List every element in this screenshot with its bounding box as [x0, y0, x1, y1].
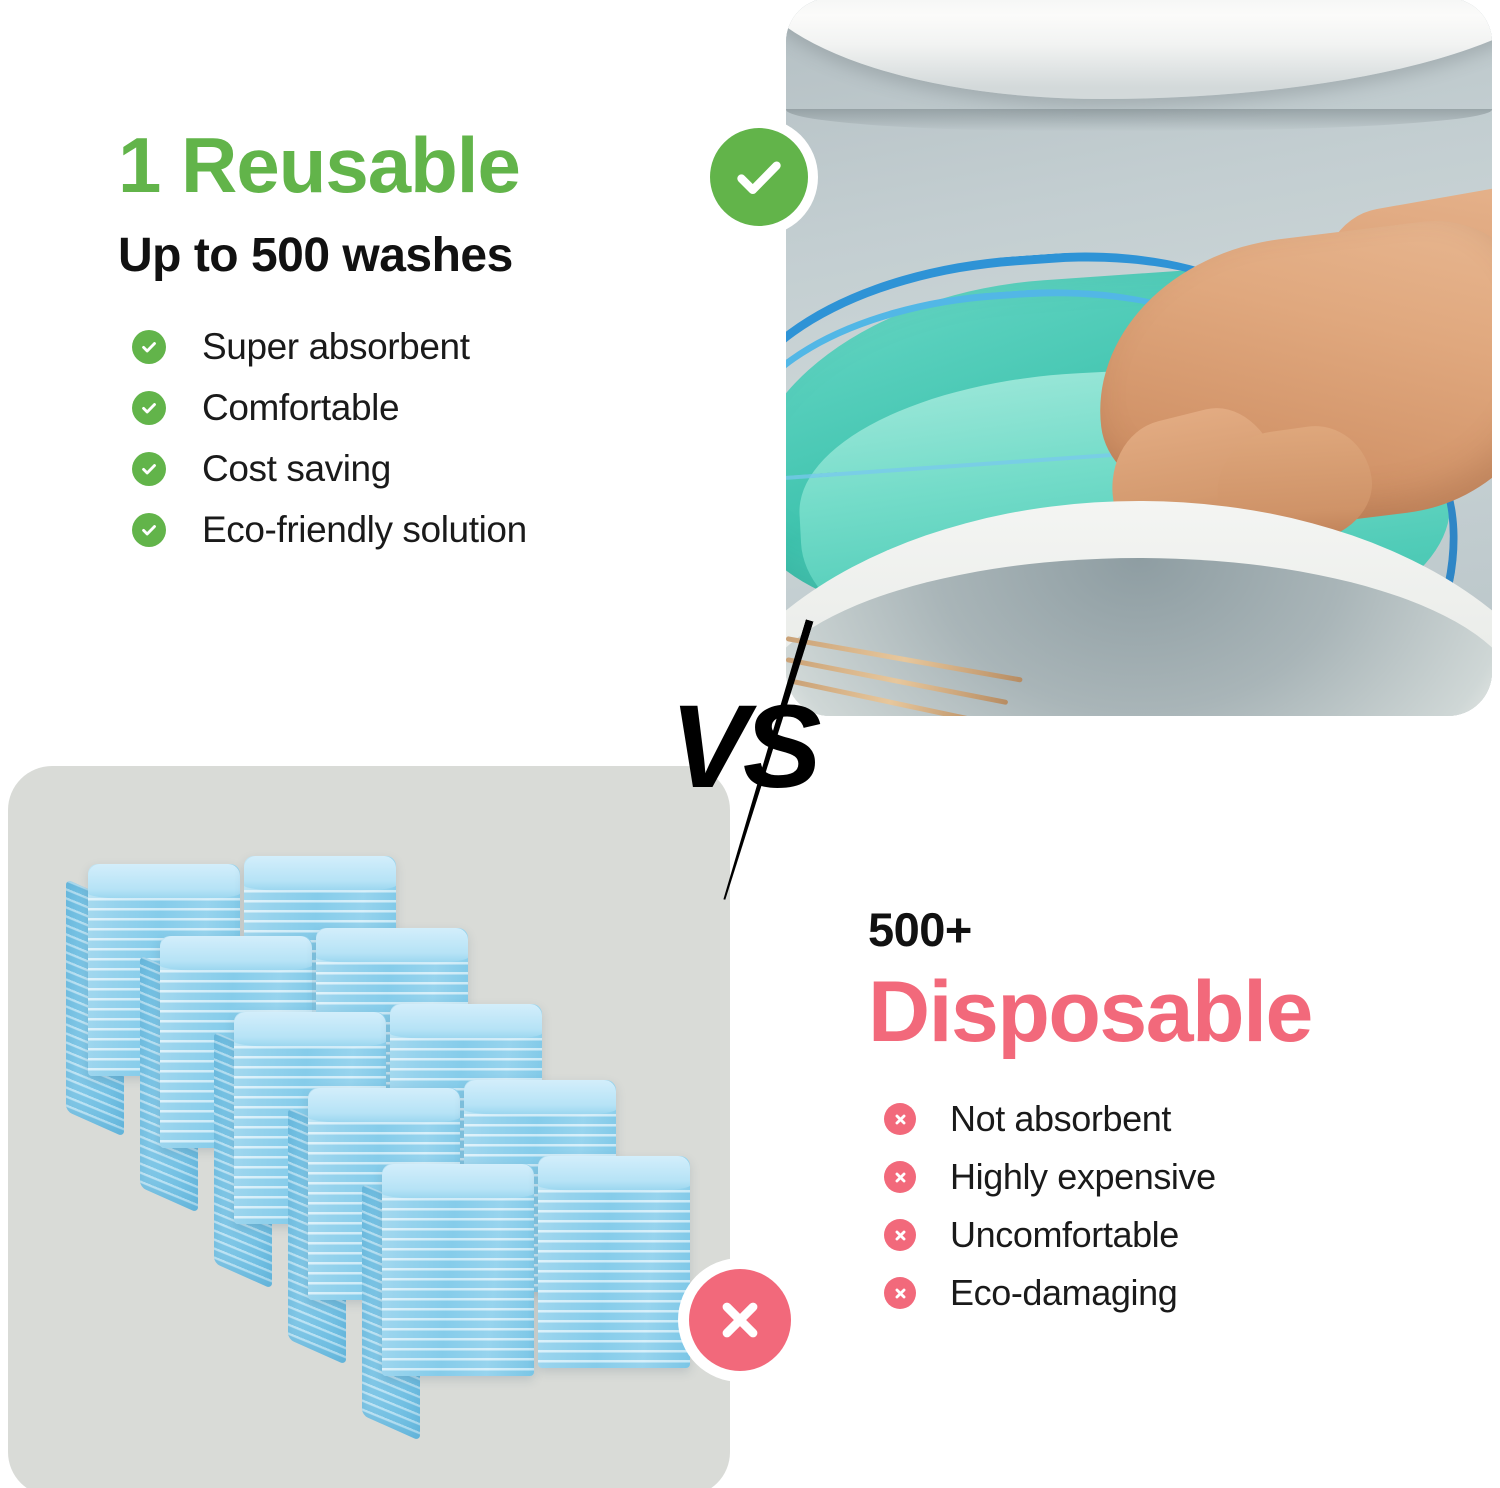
x-circle-icon	[689, 1269, 791, 1371]
x-circle-icon	[884, 1277, 916, 1309]
list-item-label: Cost saving	[202, 450, 391, 487]
check-circle-icon	[132, 452, 166, 486]
list-item-label: Highly expensive	[950, 1159, 1216, 1195]
check-circle-icon	[132, 513, 166, 547]
disposable-feature-list: Not absorbent Highly expensive Uncomfort…	[884, 1101, 1468, 1311]
pad-stack-group	[48, 856, 688, 1456]
list-item: Highly expensive	[884, 1159, 1468, 1195]
list-item-label: Eco-friendly solution	[202, 511, 527, 548]
list-item: Uncomfortable	[884, 1217, 1468, 1253]
list-item-label: Uncomfortable	[950, 1217, 1179, 1253]
disposable-text-block: 500+ Disposable Not absorbent Highly exp…	[868, 906, 1468, 1333]
reusable-headline: 1 Reusable	[118, 126, 718, 204]
reusable-text-block: 1 Reusable Up to 500 washes Super absorb…	[118, 126, 718, 572]
x-badge	[678, 1258, 802, 1382]
disposable-headline: Disposable	[868, 969, 1468, 1055]
list-item: Cost saving	[132, 450, 718, 487]
list-item: Eco-friendly solution	[132, 511, 718, 548]
list-item-label: Comfortable	[202, 389, 399, 426]
list-item: Eco-damaging	[884, 1275, 1468, 1311]
check-circle-icon	[132, 391, 166, 425]
disposable-pads-photo	[8, 766, 730, 1488]
pad-stack	[538, 1156, 690, 1368]
list-item: Super absorbent	[132, 328, 718, 365]
x-circle-icon	[884, 1103, 916, 1135]
reusable-feature-list: Super absorbent Comfortable Cost saving	[132, 328, 718, 548]
check-circle-icon	[710, 128, 808, 226]
list-item: Comfortable	[132, 389, 718, 426]
reusable-pad-photo	[786, 0, 1492, 716]
x-circle-icon	[884, 1219, 916, 1251]
list-item-label: Super absorbent	[202, 328, 470, 365]
disposable-eyebrow: 500+	[868, 906, 1468, 953]
list-item-label: Eco-damaging	[950, 1275, 1177, 1311]
comparison-infographic: 1 Reusable Up to 500 washes Super absorb…	[0, 0, 1500, 1488]
list-item-label: Not absorbent	[950, 1101, 1171, 1137]
check-circle-icon	[132, 330, 166, 364]
reusable-subhead: Up to 500 washes	[118, 232, 718, 280]
list-item: Not absorbent	[884, 1101, 1468, 1137]
pad-stack	[382, 1164, 534, 1376]
x-circle-icon	[884, 1161, 916, 1193]
